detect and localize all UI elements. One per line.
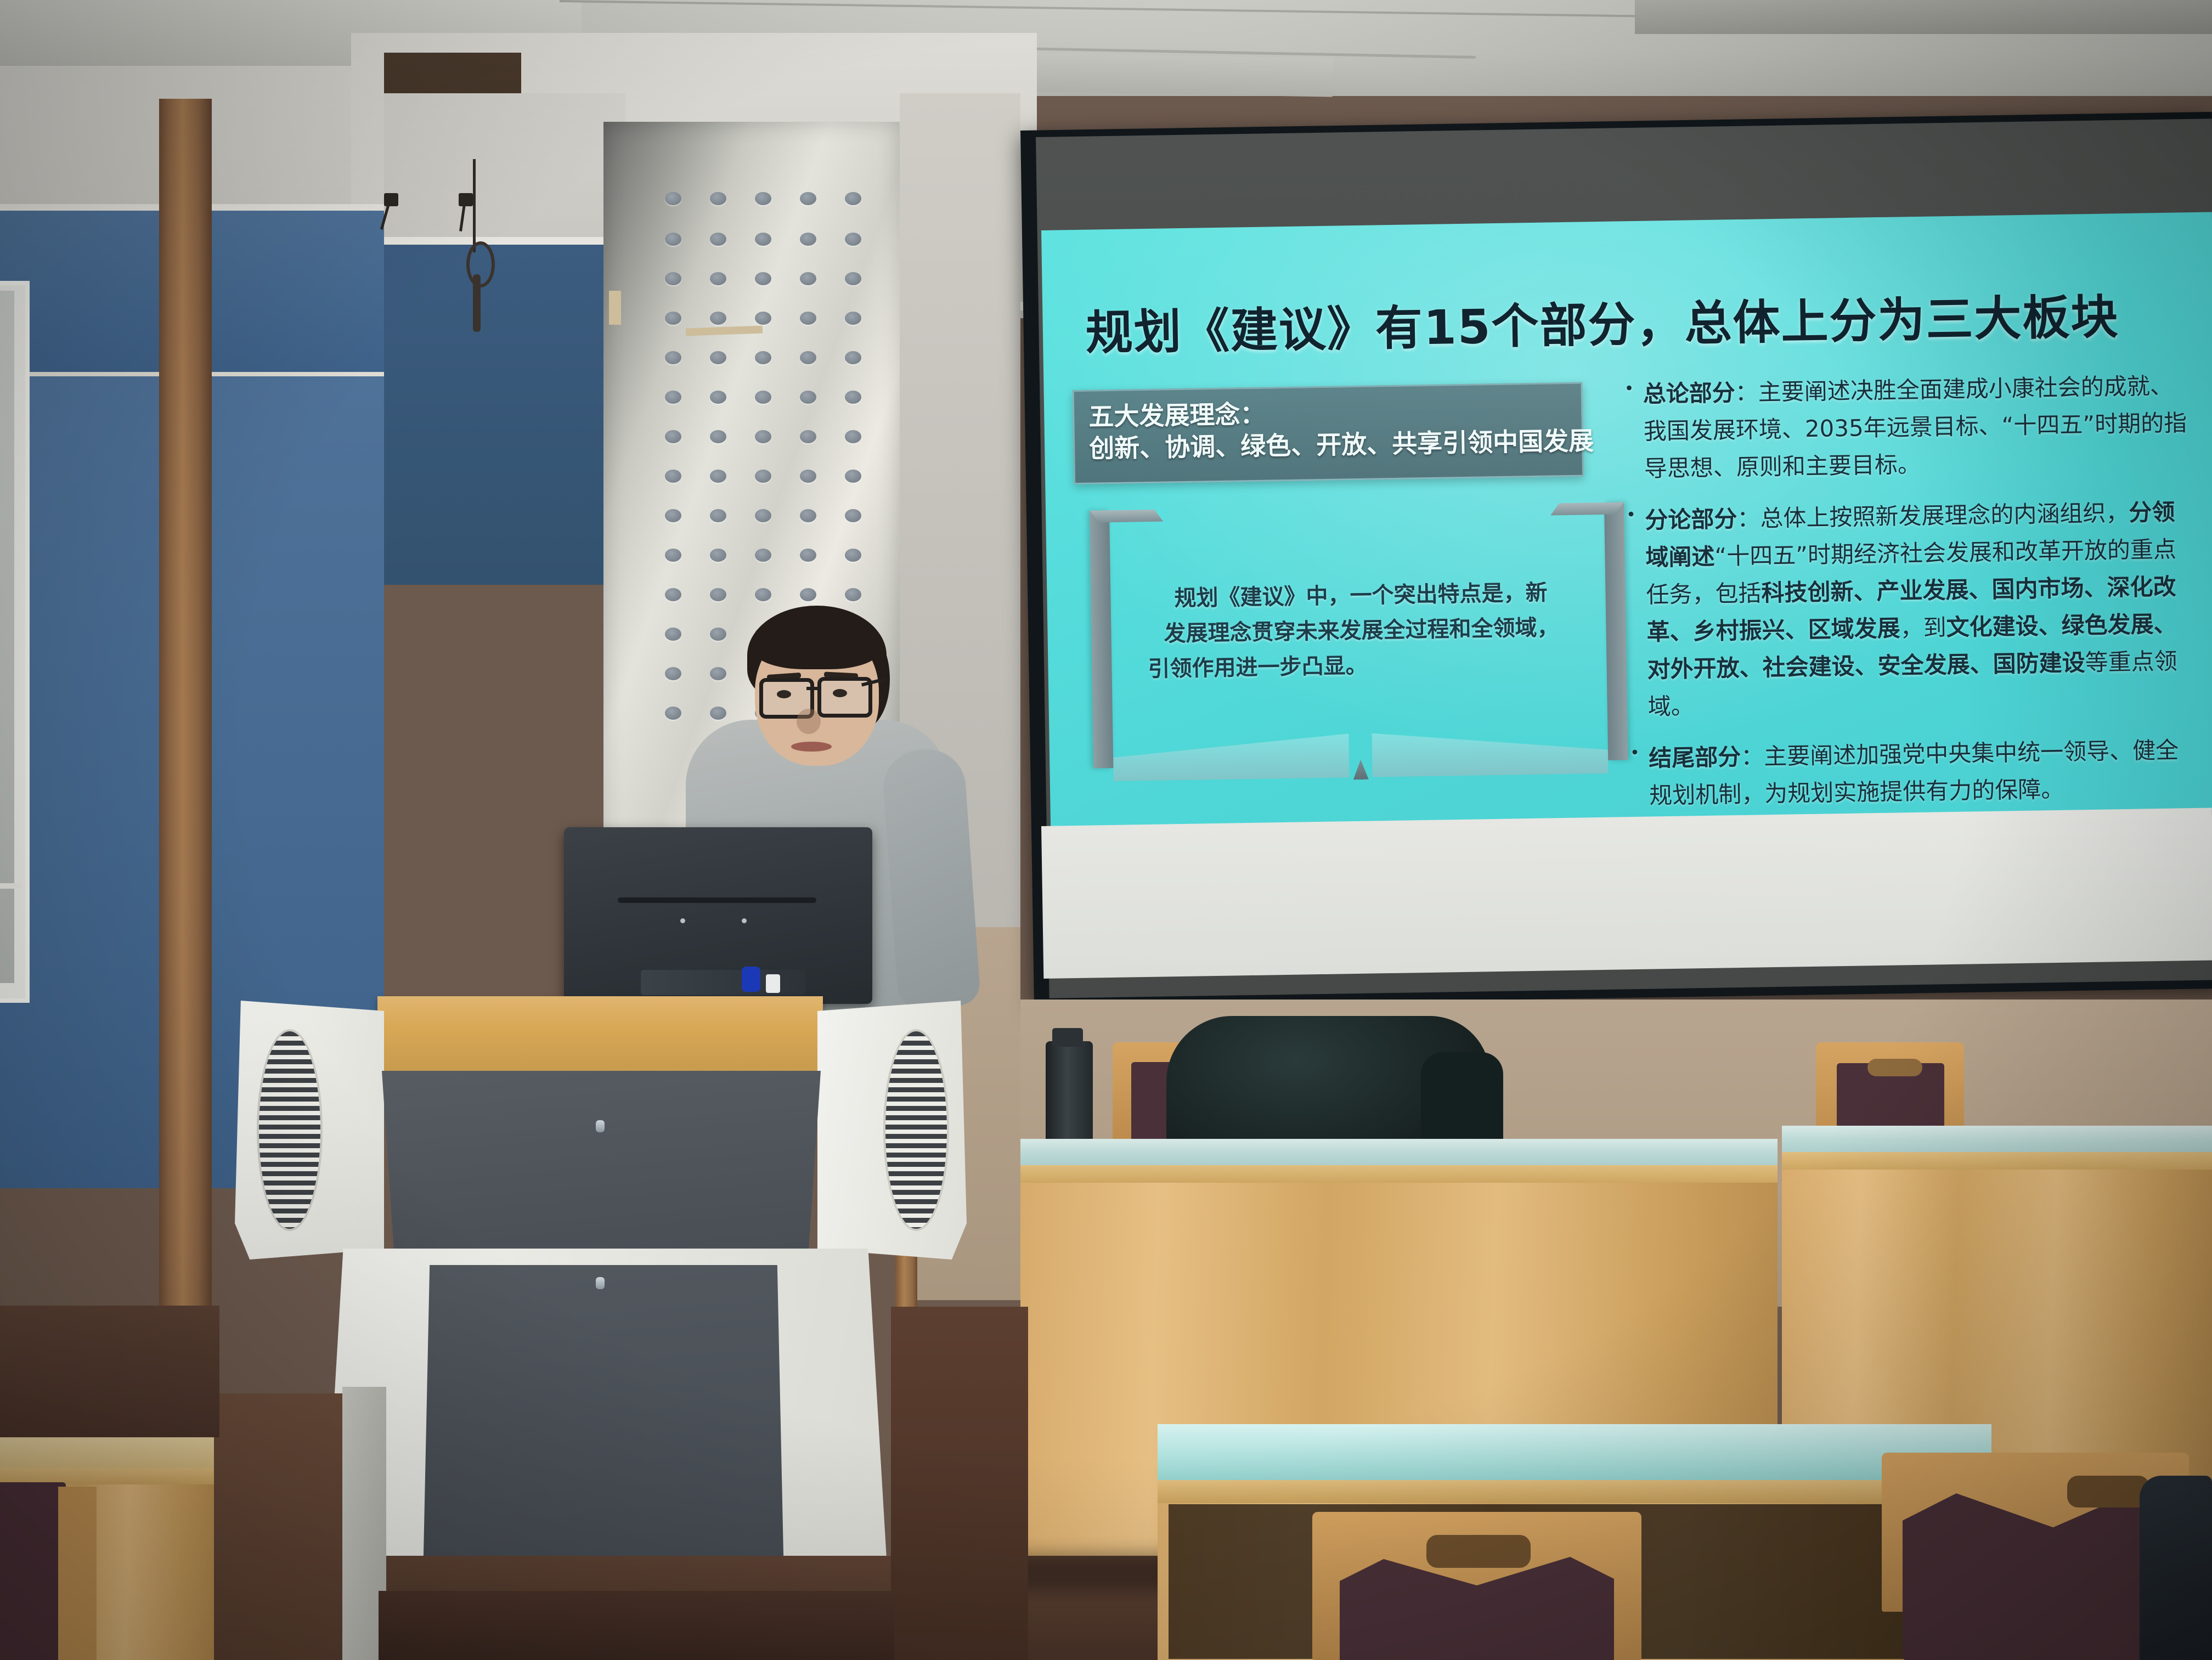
presenter-hair-fringe [753, 619, 881, 669]
water-bottle-cap [1052, 1028, 1083, 1047]
desk-front-edge [1158, 1480, 1991, 1506]
monitor-screw-2 [742, 918, 747, 923]
chair-left-pad [0, 1482, 66, 1660]
bullet-item-2: 分论部分：总体上按照新发展理念的内涵组织，分领域阐述“十四五”时期经济社会发展和… [1645, 493, 2197, 726]
white-item [766, 974, 780, 993]
podium-wood-top [377, 996, 823, 1073]
presenter-nose [797, 709, 821, 734]
five-concepts-box: 五大发展理念： 创新、协调、绿色、开放、共享引领中国发展 [1073, 382, 1584, 485]
slide-title: 规划《建议》有15个部分，总体上分为三大板块 [1085, 278, 2119, 363]
bullet-1-sep: ： [1735, 379, 1758, 406]
cable-loop [466, 241, 495, 287]
bullet-2-label: 分论部分 [1645, 505, 1737, 534]
presentation-slide: 规划《建议》有15个部分，总体上分为三大板块 五大发展理念： 创新、协调、绿色、… [1041, 212, 2212, 828]
book-note-line-3: 引领作用进一步凸显。 [1126, 647, 1510, 687]
person-seated-right [2140, 1476, 2212, 1660]
podium-lower-face [422, 1265, 785, 1605]
window-glass-left [0, 291, 14, 983]
slide-bullet-list: 总论部分：主要阐述决胜全面建成小康社会的成就、我国发展环境、2035年远景目标、… [1643, 367, 2198, 815]
podium-desk-clutter [641, 970, 805, 995]
monitor-vent-groove [618, 897, 816, 903]
presenter-arm-right [881, 747, 981, 1009]
wall-lower-right-of-podium [891, 1307, 1028, 1660]
ceiling-panel-right [1635, 0, 2212, 34]
bullet-item-3: 结尾部分：主要阐述加强党中央集中统一领导、健全规划机制，为规划实施提供有力的保障… [1649, 731, 2198, 815]
wall-panel-blue-mid [384, 245, 625, 585]
hanging-cable [473, 159, 476, 252]
blue-marker [742, 967, 760, 992]
book-spine [1353, 760, 1369, 780]
bullet-2-text-c: ，到 [1900, 614, 1946, 641]
monitor-screw-1 [680, 918, 685, 923]
projection-screen-lower-band [1041, 808, 2212, 978]
wood-column-left [159, 99, 212, 1503]
podium-front-panel [382, 1071, 821, 1266]
podium-lower-lock[interactable] [596, 1277, 605, 1289]
podium-right-speaker-grille[interactable] [883, 1029, 949, 1231]
wall-lower-left-2 [0, 1306, 219, 1437]
book-note-line-1: 规划《建议》中，一个突出特点是，新 [1130, 575, 1592, 616]
bullet-item-1: 总论部分：主要阐述决胜全面建成小康社会的成就、我国发展环境、2035年远景目标、… [1643, 367, 2193, 488]
desk-front-top [1158, 1424, 1991, 1484]
book-cover-right [1604, 502, 1628, 760]
water-bottle[interactable] [1046, 1041, 1093, 1151]
desk-left-top [0, 1432, 214, 1473]
chair-handle-2 [1867, 1059, 1922, 1076]
floor-left [379, 1591, 894, 1660]
wall-trim-right-of-col [384, 237, 625, 245]
book-cover-left [1090, 510, 1113, 769]
metal-panel-tape-1 [609, 291, 621, 325]
book-cover-left-top [1090, 510, 1163, 523]
window-mullion-left [0, 883, 21, 889]
bullet-1-label: 总论部分 [1643, 379, 1735, 408]
chair-front-1-handle [1426, 1535, 1531, 1568]
book-page-left [1113, 733, 1350, 781]
classroom-scene: 规划《建议》有15个部分，总体上分为三大板块 五大发展理念： 创新、协调、绿色、… [0, 0, 2212, 1660]
book-page-right [1372, 730, 1608, 777]
presenter-eye-left [777, 690, 791, 698]
bullet-2-text-a: 总体上按照新发展理念的内涵组织， [1760, 499, 2129, 532]
bullet-2-sep: ： [1737, 505, 1760, 533]
book-cover-right-top [1550, 502, 1624, 515]
bullet-3-sep: ： [1741, 743, 1764, 771]
hanging-cable-tail [473, 274, 481, 332]
presenter-eye-right [833, 689, 847, 697]
wall-hook-2 [459, 193, 473, 206]
open-book-graphic: 规划《建议》中，一个突出特点是，新 发展理念贯穿未来发展全过程和全领域， 引领作… [1080, 493, 1639, 809]
book-note-line-2: 发展理念贯穿未来发展全过程和全领域， [1125, 610, 1598, 652]
podium-left-speaker-grille[interactable] [257, 1029, 323, 1231]
presenter-glasses-bridge [806, 687, 819, 690]
wall-hook-1 [384, 193, 398, 206]
presenter-mouth [791, 742, 832, 752]
chair-front-2-handle [2067, 1476, 2149, 1507]
desk-left-leg [58, 1487, 97, 1660]
bullet-3-label: 结尾部分 [1649, 743, 1741, 772]
podium-front-lock[interactable] [596, 1120, 605, 1132]
